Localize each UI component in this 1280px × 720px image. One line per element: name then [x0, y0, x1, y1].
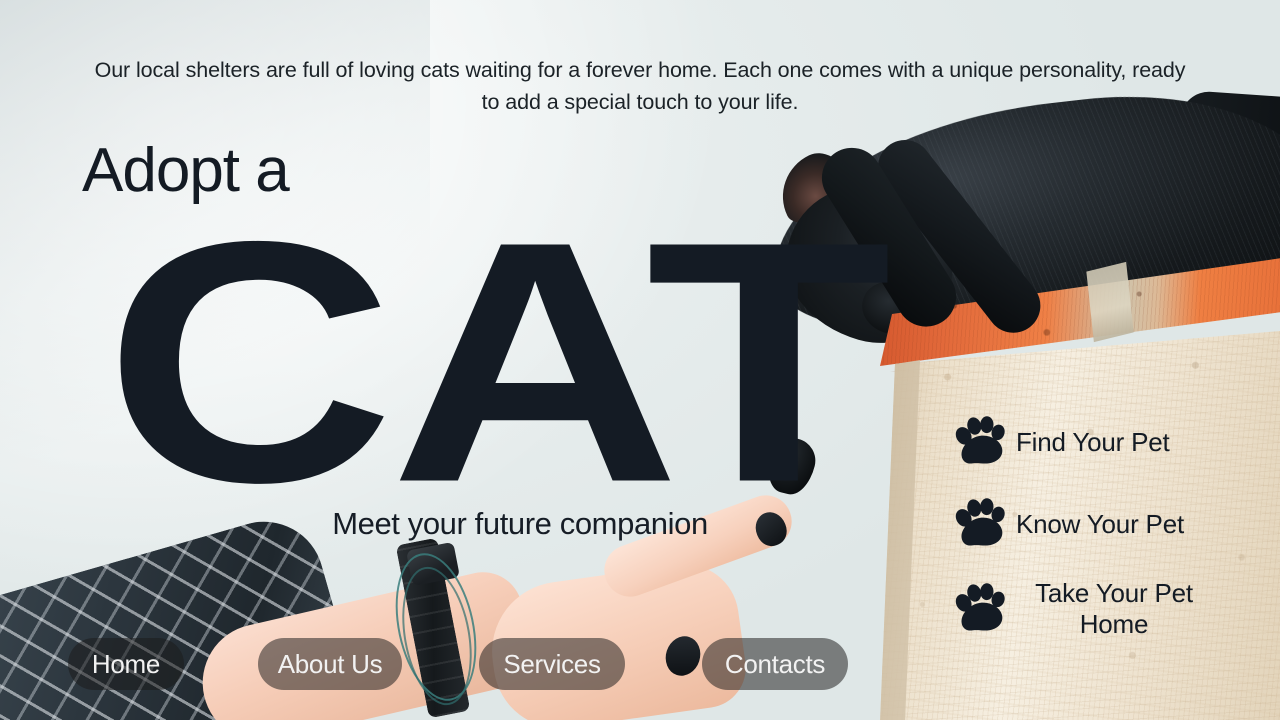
feature-label: Take Your Pet Home: [1016, 578, 1212, 640]
main-navigation: Home About Us Services Contacts: [0, 638, 1280, 690]
feature-item[interactable]: Know Your Pet: [952, 496, 1252, 552]
nav-item-services[interactable]: Services: [479, 638, 625, 690]
tagline: Meet your future companion: [180, 505, 860, 543]
paw-print-icon: [952, 414, 1008, 470]
hero-banner: Our local shelters are full of loving ca…: [0, 0, 1280, 720]
intro-paragraph: Our local shelters are full of loving ca…: [90, 54, 1190, 118]
feature-item[interactable]: Find Your Pet: [952, 414, 1252, 470]
feature-item[interactable]: Take Your Pet Home: [952, 578, 1252, 640]
nav-item-about-us[interactable]: About Us: [258, 638, 402, 690]
brick-mortar-joint: [1086, 262, 1133, 342]
feature-label: Know Your Pet: [1016, 509, 1184, 540]
paw-print-icon: [952, 581, 1008, 637]
nav-item-home[interactable]: Home: [68, 638, 184, 690]
paw-print-icon: [952, 496, 1008, 552]
feature-list: Find Your Pet Know Your Pet: [952, 414, 1252, 640]
nav-item-contacts[interactable]: Contacts: [702, 638, 848, 690]
page-title: CAT: [104, 206, 887, 518]
feature-label: Find Your Pet: [1016, 427, 1170, 458]
